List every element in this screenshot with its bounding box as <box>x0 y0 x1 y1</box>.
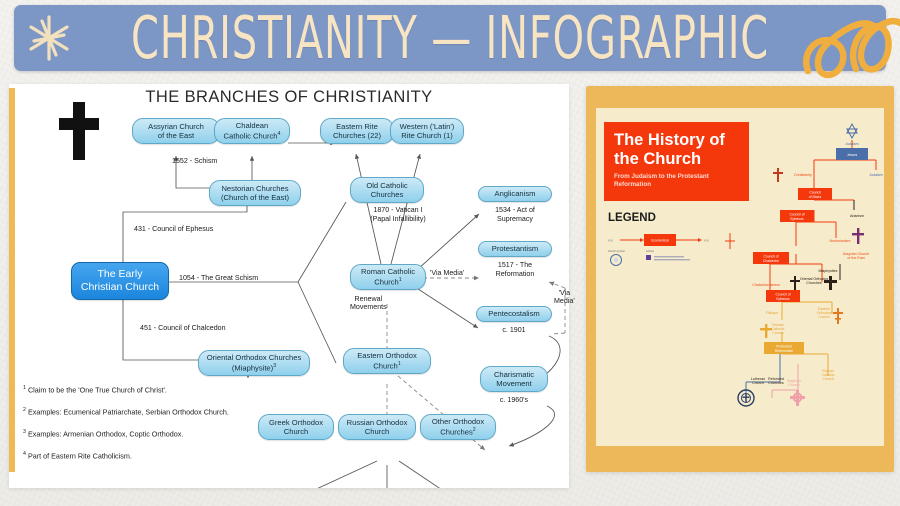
svg-text:Churches: Churches <box>768 381 784 385</box>
node-roman-catholic-church[interactable]: Roman Catholic Church1 <box>350 264 426 290</box>
svg-text:schism: schism <box>646 249 654 253</box>
note-charismatic: c. 1960's <box>480 396 548 405</box>
note-anglicanism: 1534 - Act of Supremacy <box>478 206 552 225</box>
roman-catholic-cross-icon <box>760 324 772 338</box>
node-protestantism[interactable]: Protestantism <box>478 241 552 257</box>
poster-label-christianity: Christianity <box>794 173 812 177</box>
poster-label-oriental-2: Churches <box>806 281 822 285</box>
svg-text:Church: Church <box>788 383 800 387</box>
edge-label-renewal-movements: Renewal Movements <box>350 295 387 311</box>
anglican-cross-icon <box>790 390 805 406</box>
edge-label-council-of-chalcedon: 451 - Council of Chalcedon <box>140 324 226 332</box>
poster-label-chalcedonianism: Chalcedonianism <box>752 283 780 287</box>
latin-cross-icon <box>773 168 783 182</box>
svg-text:Ecumenical: Ecumenical <box>651 239 669 243</box>
edge-label-schism-1552: 1552 - Schism <box>172 157 217 165</box>
node-chaldean-catholic-church[interactable]: Chaldean Catholic Church4 <box>214 118 290 144</box>
svg-text:Jesus: Jesus <box>847 152 857 157</box>
legend-diagram-icon: Ecumenical era era church symbol schism <box>604 230 754 274</box>
poster-chip-protestant-reformation: Protestant Reformation <box>764 342 804 354</box>
squiggle-doodle-icon <box>794 0 900 85</box>
poster-label-judaism-top: Judaism <box>845 142 858 146</box>
node-other-orthodox-churches[interactable]: Other Orthodox Churches2 <box>420 414 496 440</box>
note-protestantism: 1517 - The Reformation <box>478 261 552 280</box>
banner-title: CHRISTIANITY — INFOGRAPHIC <box>101 0 799 77</box>
poster-frame: The History of the Church From Judaism t… <box>586 86 894 472</box>
node-anglicanism[interactable]: Anglicanism <box>478 186 552 202</box>
poster-label-arianism: Arianism <box>850 214 864 218</box>
assyrian-cross-icon <box>852 228 864 244</box>
edge-label-council-of-ephesus: 431 - Council of Ephesus <box>134 225 213 233</box>
edge-label-great-schism: 1054 - The Great Schism <box>179 274 258 282</box>
footnote-2: 2 Examples: Ecumenical Patriarchate, Ser… <box>23 406 353 416</box>
note-pentecostalism: c. 1901 <box>476 326 552 335</box>
svg-text:church symbol: church symbol <box>608 249 625 253</box>
svg-text:Ephesus: Ephesus <box>790 217 803 221</box>
poster-chip-council-of-nicea: Council of Nicea <box>798 188 832 200</box>
poster-chip-council-of-ephesus-1: Council of Ephesus <box>780 210 814 222</box>
svg-text:era: era <box>704 239 709 243</box>
node-charismatic-movement[interactable]: Charismatic Movement <box>480 366 548 392</box>
node-western-rite-church[interactable]: Western ('Latin') Rite Church (1) <box>390 118 464 144</box>
node-early-christian-church[interactable]: The Early Christian Church <box>71 262 169 300</box>
poster-chip-council-of-ephesus-2: Council of Ephesus <box>766 290 800 302</box>
poster-subtitle: From Judaism to the Protestant Reformati… <box>614 173 741 189</box>
poster-headline-block: The History of the Church From Judaism t… <box>604 122 749 201</box>
node-eastern-orthodox-church[interactable]: Eastern Orthodox Church1 <box>343 348 431 374</box>
footnote-1: 1 Claim to be the 'One True Church of Ch… <box>23 384 353 394</box>
poster-label-nestorianism: Nestorianism <box>830 239 851 243</box>
svg-text:Reformation: Reformation <box>775 349 794 353</box>
footnote-4: 4 Part of Eastern Rite Catholicism. <box>23 450 353 460</box>
poster-label-assyrian-2: of the East <box>847 256 864 260</box>
poster-chip-jesus: Jesus <box>836 148 868 160</box>
node-nestorian-churches[interactable]: Nestorian Churches (Church of the East) <box>209 180 301 206</box>
svg-text:Ephesus: Ephesus <box>776 297 789 301</box>
node-eastern-rite-churches[interactable]: Eastern Rite Churches (22) <box>320 118 394 144</box>
poster-label-miaphysites: Miaphysites <box>819 269 838 273</box>
branches-diagram-card: THE BRANCHES OF CHRISTIANITY <box>9 84 569 488</box>
svg-text:Chalcedon: Chalcedon <box>763 259 779 263</box>
poster-legend-title: LEGEND <box>608 212 656 224</box>
svg-text:era: era <box>608 239 613 243</box>
sparkle-icon <box>22 11 76 65</box>
card-left-accent-bar <box>9 88 15 472</box>
node-assyrian-church[interactable]: Assyrian Church of the East <box>132 118 220 144</box>
footnotes-list: 1 Claim to be the 'One True Church of Ch… <box>23 384 353 472</box>
poster-church-tree: Judaism Judaism Christianity Nicaeanism … <box>736 114 884 434</box>
svg-text:of Nicea: of Nicea <box>809 195 822 199</box>
poster-chip-council-of-chalcedon: Council of Chalcedon <box>753 252 789 264</box>
footnote-3: 3 Examples: Armenian Orthodox, Coptic Or… <box>23 428 353 438</box>
edge-label-via-media-right: 'Via Media' <box>554 289 575 305</box>
node-pentecostalism[interactable]: Pentecostalism <box>476 306 552 322</box>
poster-label-filioque: Filioque <box>766 311 779 315</box>
svg-text:Church: Church <box>752 381 764 385</box>
poster-title: The History of the Church <box>614 131 741 168</box>
node-oriental-orthodox-churches[interactable]: Oriental Orthodox Churches (Miaphysite)3 <box>198 350 310 376</box>
node-old-catholic-churches[interactable]: Old Catholic Churches <box>350 177 424 203</box>
svg-text:Church: Church <box>818 315 830 319</box>
poster-label-judaism-right: Judaism <box>869 173 882 177</box>
star-of-david-icon <box>847 124 857 138</box>
note-old-catholic: 1870 - Vatican I (Papal Infallibility) <box>350 206 446 225</box>
svg-text:Church: Church <box>822 377 834 381</box>
header-banner: CHRISTIANITY — INFOGRAPHIC <box>14 5 886 71</box>
edge-label-via-media-top: 'Via Media' <box>430 269 464 277</box>
history-of-the-church-poster[interactable]: The History of the Church From Judaism t… <box>596 108 884 446</box>
svg-text:Church: Church <box>772 331 784 335</box>
eastern-orthodox-cross-icon <box>833 308 843 324</box>
